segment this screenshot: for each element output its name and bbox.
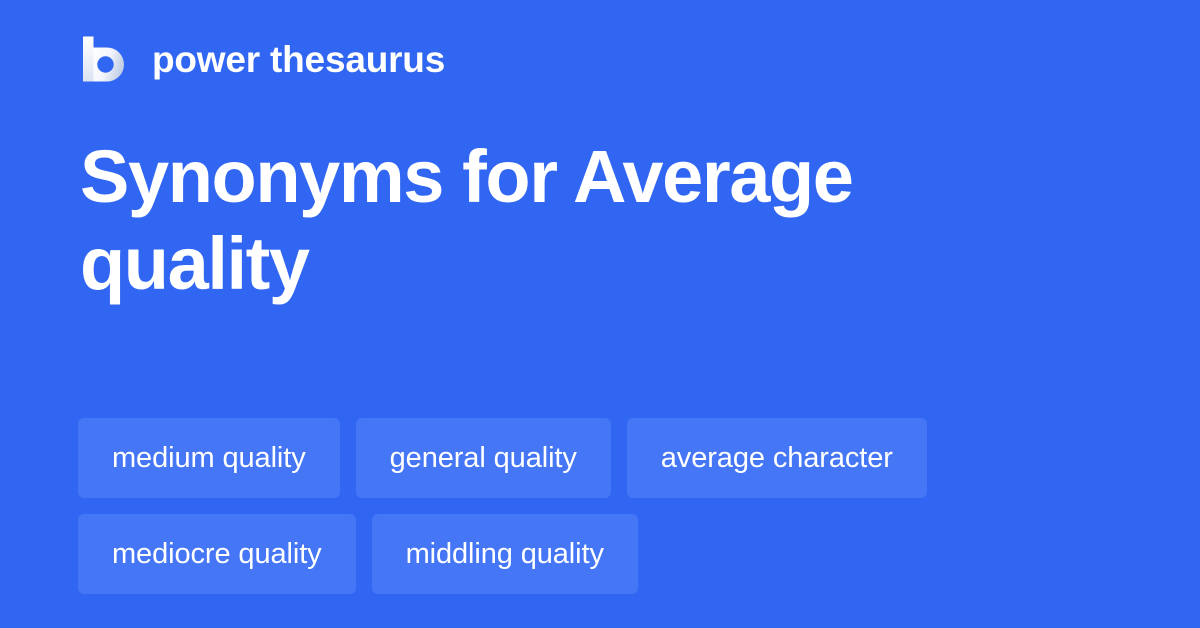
synonym-pill[interactable]: mediocre quality [78,514,356,594]
synonym-pill[interactable]: general quality [356,418,611,498]
synonym-pill[interactable]: medium quality [78,418,340,498]
synonym-list: medium quality general quality average c… [78,418,1138,594]
page-title: Synonyms for Average quality [80,133,1080,308]
brand-header[interactable]: power thesaurus [80,28,445,90]
brand-name: power thesaurus [152,41,445,78]
synonym-pill[interactable]: middling quality [372,514,638,594]
power-thesaurus-b-logo-icon [80,34,130,84]
synonym-pill[interactable]: average character [627,418,927,498]
open-graph-card: power thesaurus Synonyms for Average qua… [0,0,1200,628]
